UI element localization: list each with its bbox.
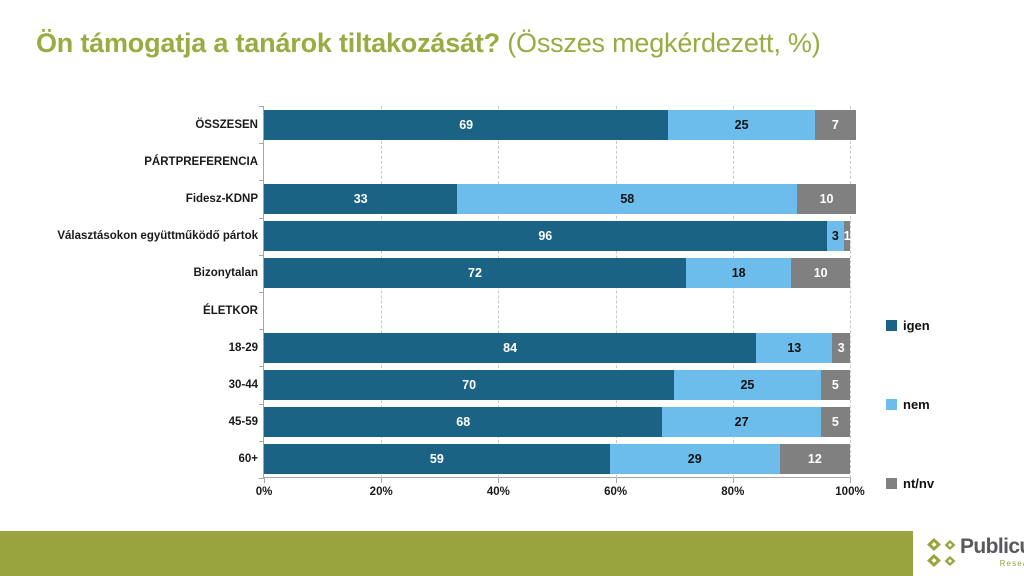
bar-segment-nem: 25 — [668, 110, 815, 140]
bar-segment-nem: 3 — [827, 221, 845, 251]
bar-segment-nem: 27 — [662, 407, 820, 437]
publicus-logo-tagline: Research — [960, 559, 1024, 568]
y-axis-tick — [259, 143, 264, 144]
x-axis-tick-label: 100% — [835, 486, 864, 498]
x-gridline — [850, 106, 851, 478]
bar-segment-igen: 68 — [264, 407, 662, 437]
y-axis-tick — [259, 404, 264, 405]
x-axis-tick — [850, 478, 851, 483]
bar-row: 68275 — [264, 407, 850, 437]
legend-swatch-icon — [886, 320, 897, 331]
category-label: 30-44 — [2, 379, 258, 391]
plot-area: 0%20%40%60%80%100%6925733581096317218108… — [264, 106, 850, 478]
category-label: PÁRTPREFERENCIA — [2, 156, 258, 168]
bar-segment-nem: 13 — [756, 333, 832, 363]
legend-label: nem — [903, 397, 930, 412]
bar-row: 335810 — [264, 184, 850, 214]
bar-segment-igen: 33 — [264, 184, 457, 214]
legend-item-nt-nv[interactable]: nt/nv — [886, 476, 934, 491]
y-axis-tick — [259, 180, 264, 181]
bar-segment-igen: 59 — [264, 444, 610, 474]
bar-row: 9631 — [264, 221, 850, 251]
bar-row: 70255 — [264, 370, 850, 400]
legend-label: igen — [903, 318, 930, 333]
stacked-bar-chart: ÖSSZESENPÁRTPREFERENCIAFidesz-KDNPVálasz… — [0, 100, 1024, 500]
bar-segment-nt-nv: 12 — [780, 444, 850, 474]
bar-row: 721810 — [264, 258, 850, 288]
y-axis-tick — [259, 292, 264, 293]
bar-segment-nt-nv: 10 — [797, 184, 856, 214]
bar-row: 69257 — [264, 110, 850, 140]
footer-bar — [0, 531, 913, 576]
legend-item-nem[interactable]: nem — [886, 397, 930, 412]
legend-swatch-icon — [886, 478, 897, 489]
page-title: Ön támogatja a tanárok tiltakozását? (Ös… — [36, 28, 821, 59]
category-label: 60+ — [2, 453, 258, 465]
category-label: Fidesz-KDNP — [2, 193, 258, 205]
bar-segment-nem: 18 — [686, 258, 791, 288]
y-axis-tick — [259, 218, 264, 219]
bar-segment-igen: 84 — [264, 333, 756, 363]
bar-segment-nt-nv: 1 — [844, 221, 850, 251]
publicus-diamond-icon — [925, 537, 959, 569]
x-axis-tick — [264, 478, 265, 483]
bar-segment-igen: 96 — [264, 221, 827, 251]
x-axis-line — [263, 477, 850, 478]
bar-segment-igen: 69 — [264, 110, 668, 140]
page-title-main: Ön támogatja a tanárok tiltakozását? — [36, 28, 500, 58]
publicus-logo-name: Publicus — [960, 536, 1024, 558]
bar-segment-nt-nv: 5 — [821, 370, 850, 400]
x-axis-tick — [381, 478, 382, 483]
x-axis-tick — [733, 478, 734, 483]
category-label: ÖSSZESEN — [2, 119, 258, 131]
bar-segment-nt-nv: 3 — [832, 333, 850, 363]
legend-swatch-icon — [886, 399, 897, 410]
bar-segment-nt-nv: 7 — [815, 110, 856, 140]
publicus-logo-text: Publicus Research — [960, 536, 1024, 568]
y-axis-tick — [259, 366, 264, 367]
y-axis-tick — [259, 329, 264, 330]
y-axis-tick — [259, 106, 264, 107]
category-label: Bizonytalan — [2, 267, 258, 279]
category-axis: ÖSSZESENPÁRTPREFERENCIAFidesz-KDNPVálasz… — [0, 100, 258, 478]
bar-segment-igen: 70 — [264, 370, 674, 400]
legend-label: nt/nv — [903, 476, 934, 491]
x-axis-tick — [498, 478, 499, 483]
y-axis-tick — [259, 255, 264, 256]
bar-segment-nt-nv: 5 — [821, 407, 850, 437]
category-label: 18-29 — [2, 342, 258, 354]
x-axis-tick — [616, 478, 617, 483]
bar-row: 84133 — [264, 333, 850, 363]
x-axis-tick-label: 0% — [256, 486, 273, 498]
chart-legend: igennemnt/nv — [886, 318, 1006, 488]
category-label: ÉLETKOR — [2, 305, 258, 317]
x-axis-tick-label: 80% — [721, 486, 744, 498]
x-axis-tick-label: 20% — [370, 486, 393, 498]
bar-segment-nt-nv: 10 — [791, 258, 850, 288]
bar-segment-nem: 58 — [457, 184, 797, 214]
bar-segment-nem: 25 — [674, 370, 821, 400]
x-axis-tick-label: 40% — [487, 486, 510, 498]
x-axis-tick-label: 60% — [604, 486, 627, 498]
category-label: 45-59 — [2, 416, 258, 428]
page-title-sub: (Összes megkérdezett, %) — [500, 28, 821, 58]
publicus-logo: Publicus Research — [921, 530, 1024, 576]
bar-segment-igen: 72 — [264, 258, 686, 288]
y-axis-tick — [259, 441, 264, 442]
legend-item-igen[interactable]: igen — [886, 318, 930, 333]
y-axis-tick — [259, 478, 264, 479]
category-label: Választásokon együttműködő pártok — [2, 230, 258, 242]
bar-row: 592912 — [264, 444, 850, 474]
bar-segment-nem: 29 — [610, 444, 780, 474]
